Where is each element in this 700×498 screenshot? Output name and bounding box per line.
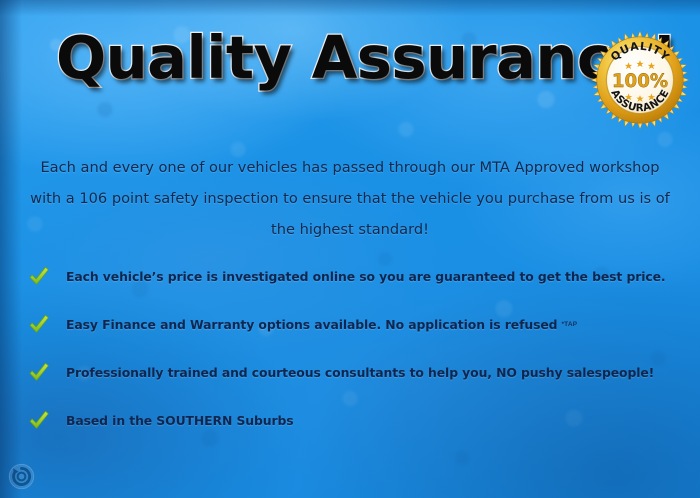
- quality-assurance-seal-icon: QUALITY 100% ASSURANCE: [588, 28, 692, 132]
- refresh-circle-icon: [8, 463, 35, 490]
- page-title: Quality Assurance!: [56, 28, 677, 87]
- seal-center-text: 100%: [612, 71, 668, 92]
- check-icon: [26, 360, 52, 386]
- list-item: Based in the SOUTHERN Suburbs: [26, 396, 676, 444]
- list-item: Each vehicle’s price is investigated onl…: [26, 252, 676, 300]
- list-item: Professionally trained and courteous con…: [26, 348, 676, 396]
- list-item-label: Based in the SOUTHERN Suburbs: [66, 413, 294, 428]
- check-icon: [26, 312, 52, 338]
- check-icon: [26, 408, 52, 434]
- benefits-list: Each vehicle’s price is investigated onl…: [26, 252, 676, 444]
- check-icon: [26, 264, 52, 290]
- list-item-footnote: *TAP: [561, 321, 577, 328]
- list-item-label: Each vehicle’s price is investigated onl…: [66, 269, 666, 284]
- list-item-label: Easy Finance and Warranty options availa…: [66, 317, 557, 332]
- list-item: Easy Finance and Warranty options availa…: [26, 300, 676, 348]
- intro-paragraph: Each and every one of our vehicles has p…: [30, 152, 670, 245]
- quality-assurance-poster: Quality Assurance!: [0, 0, 700, 498]
- list-item-label: Professionally trained and courteous con…: [66, 365, 654, 380]
